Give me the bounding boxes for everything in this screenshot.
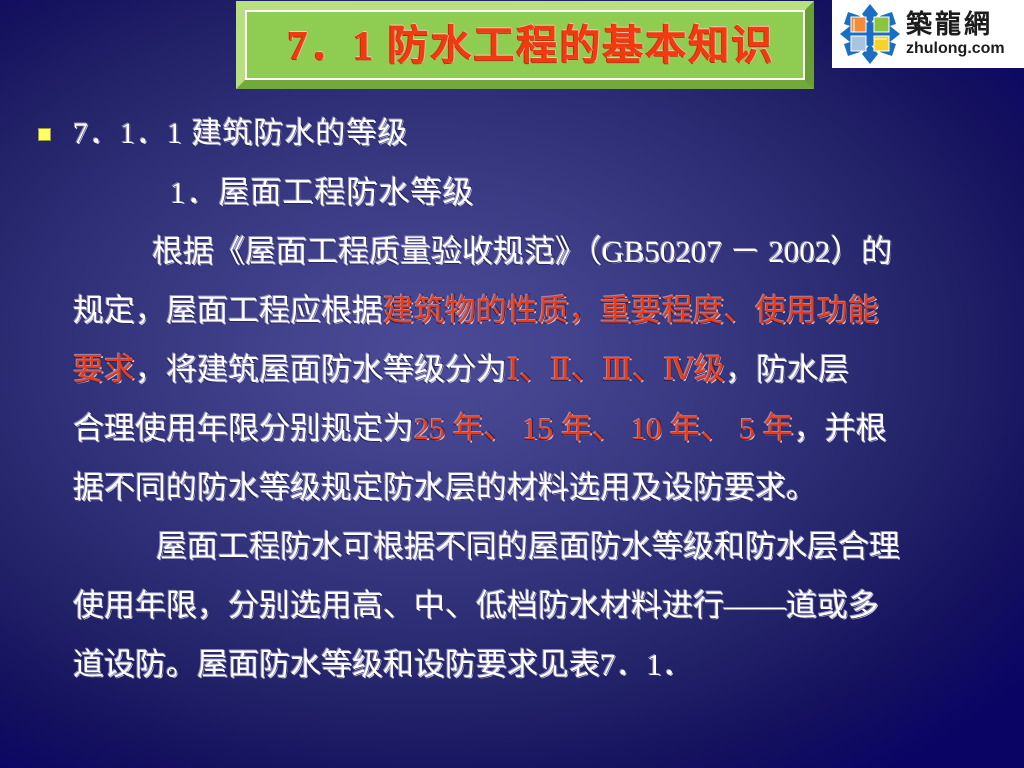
page-title: 7．1 防水工程的基本知识 [287, 25, 774, 66]
section-heading-row: 7．1．1 建筑防水的等级 [0, 104, 1024, 163]
paragraph1-line1: 根据《屋面工程质量验收规范》（GB50207 － 2002）的 [0, 222, 1024, 281]
slide-title-box: 7．1 防水工程的基本知识 [236, 1, 814, 89]
logo-wordmark: 築龍網 zhulong.com [906, 12, 1005, 57]
logo-chinese-name: 築龍網 [906, 12, 1005, 38]
paragraph1-line4-years: 25 年、 15 年、 10 年、 5 年 [414, 411, 794, 446]
paragraph2-line3: 道设防。屋面防水等级和设防要求见表7．1． [0, 635, 1024, 694]
zhulong-pinwheel-icon [838, 4, 902, 64]
paragraph1-line3-highlight-a: 要求 [73, 352, 135, 387]
paragraph2-line1: 屋面工程防水可根据不同的屋面防水等级和防水层合理 [0, 517, 1024, 576]
paragraph1-line4-plain-a: 合理使用年限分别规定为 [73, 411, 414, 446]
paragraph1-line3-plain-d: ，防水层 [725, 352, 849, 387]
zhulong-logo: 築龍網 zhulong.com [832, 0, 1024, 68]
paragraph2-line2: 使用年限，分别选用高、中、低档防水材料进行——道或多 [0, 576, 1024, 635]
slide-title-inner-frame: 7．1 防水工程的基本知识 [245, 10, 805, 80]
bullet-square-icon [38, 128, 51, 141]
logo-domain: zhulong.com [906, 41, 1005, 57]
paragraph1-line3: 要求，将建筑屋面防水等级分为Ⅰ、Ⅱ、Ⅲ、Ⅳ级，防水层 [0, 340, 1024, 399]
paragraph1-line4: 合理使用年限分别规定为25 年、 15 年、 10 年、 5 年，并根 [0, 399, 1024, 458]
paragraph1-line3-grades: Ⅰ、Ⅱ、Ⅲ、Ⅳ级 [507, 352, 725, 387]
sub-heading: 1．屋面工程防水等级 [0, 163, 1024, 222]
section-heading: 7．1．1 建筑防水的等级 [73, 117, 409, 150]
paragraph1-line2-plain: 规定，屋面工程应根据 [73, 293, 383, 328]
paragraph1-line2-highlight: 建筑物的性质，重要程度、使用功能 [383, 293, 879, 328]
paragraph1-line3-plain-b: ，将建筑屋面防水等级分为 [135, 352, 507, 387]
paragraph1-line5: 据不同的防水等级规定防水层的材料选用及设防要求。 [0, 458, 1024, 517]
paragraph1-line4-plain-c: ，并根 [794, 411, 887, 446]
paragraph1-line2: 规定，屋面工程应根据建筑物的性质，重要程度、使用功能 [0, 281, 1024, 340]
slide-canvas: 7．1 防水工程的基本知识 [0, 0, 1024, 768]
slide-body: 7．1．1 建筑防水的等级 1．屋面工程防水等级 根据《屋面工程质量验收规范》（… [0, 104, 1024, 694]
